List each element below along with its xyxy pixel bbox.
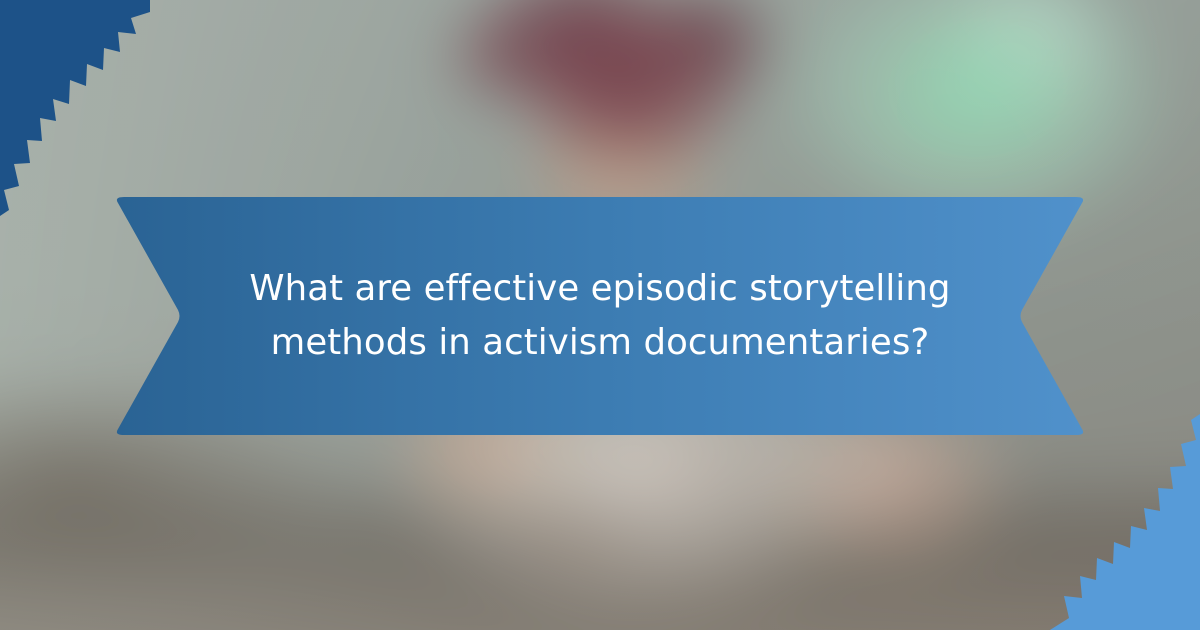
question-card: What are effective episodic storytelling… bbox=[0, 0, 1200, 630]
question-banner: What are effective episodic storytelling… bbox=[110, 197, 1090, 435]
question-line-2: methods in activism documentaries? bbox=[271, 316, 930, 370]
question-text: What are effective episodic storytelling… bbox=[110, 197, 1090, 435]
question-line-1: What are effective episodic storytelling bbox=[249, 262, 950, 316]
